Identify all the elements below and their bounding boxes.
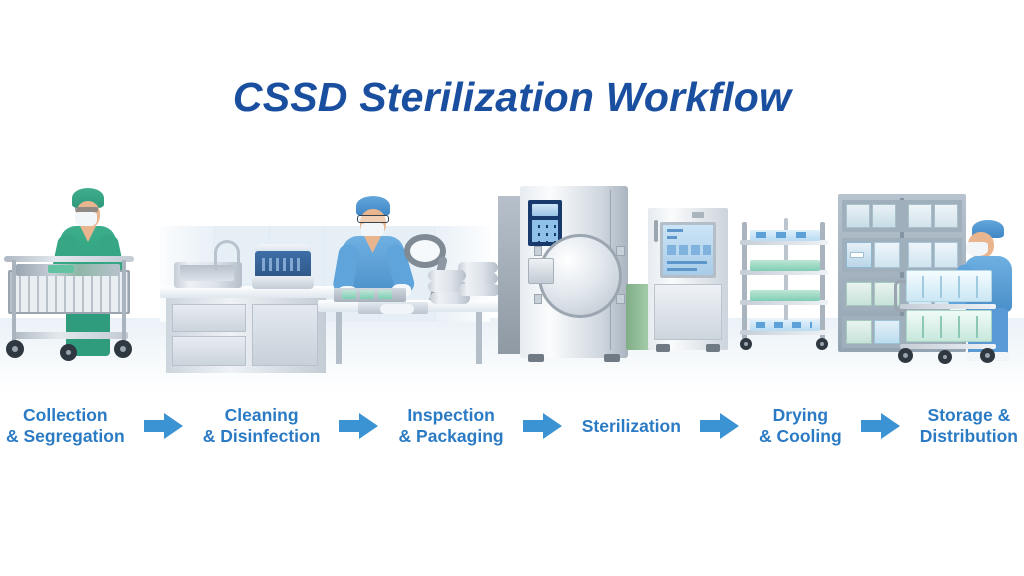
cabinet-top-vent [692,212,704,218]
display-row-1 [667,229,683,232]
drying-cooling-scene [648,208,833,368]
face-mask [75,212,97,227]
stacked-sterilization-containers [428,262,500,306]
cart-leg-right [122,260,126,340]
tray-green-accent [48,265,74,273]
storage-box-7 [908,242,932,268]
display-row-4 [667,268,697,271]
storage-box-13 [846,320,872,344]
cabinet-foot-right [706,344,720,352]
cart-lower-shelf [12,332,128,339]
door-latch-right-lower [616,294,625,304]
display-row-3 [667,261,707,264]
display-screen [532,204,558,216]
step-inspection[interactable]: Inspection & Packaging [399,405,504,447]
step-drying[interactable]: Drying & Cooling [759,405,842,447]
green-tray-2 [750,290,820,301]
box-label-5 [850,252,864,258]
arrow-right-icon-2 [339,413,379,439]
cart-wheel-1 [898,348,913,363]
step-storage[interactable]: Storage & Distribution [920,405,1018,447]
wire-transport-cart [4,256,134,361]
pack-divider-top [906,276,992,298]
distribution-cart [894,270,998,364]
step-collection-line2: & Segregation [6,426,125,447]
step-inspection-line1: Inspection [407,405,495,425]
cabinet-drawer-top [172,304,246,332]
rack-caster-right [816,338,828,350]
storage-box-1 [846,204,870,228]
step-storage-line1: Storage & [928,405,1011,425]
workflow-step-row: Collection & Segregation Cleaning & Disi… [0,396,1024,456]
cart-basket [8,270,130,314]
table-leg-right [476,312,482,364]
cabinet-handle [654,220,658,242]
step-cleaning-line2: & Disinfection [203,426,321,447]
autoclave-foot-left [528,354,544,362]
arrow-right-icon-4 [700,413,740,439]
arrow-right-icon-3 [523,413,563,439]
cabinet-foot-left [656,344,670,352]
cart-leg-left [12,260,16,340]
table-leg-left [336,312,342,364]
step-storage-line2: Distribution [920,426,1018,447]
storage-box-8 [934,242,958,268]
step-sterilization[interactable]: Sterilization [582,416,681,437]
door-handle [528,258,554,284]
cart-wheel-1 [6,340,24,358]
step-inspection-line2: & Packaging [399,426,504,447]
tray-green-3 [378,290,392,299]
inspection-packaging-scene [318,196,503,371]
storage-box-9 [846,282,872,306]
storage-box-2 [872,204,896,228]
gooseneck-faucet [214,240,240,270]
cart-wheel-3 [114,340,132,358]
step-cleaning[interactable]: Cleaning & Disinfection [203,405,321,447]
cleaning-disinfection-scene [160,218,340,373]
storage-box-4 [934,204,958,228]
step-drying-line2: & Cooling [759,426,842,447]
door-latch-right [616,246,625,256]
illustration-band [0,178,1024,393]
control-panel [528,200,562,246]
cart-shelf-mid [900,304,996,309]
cleaner-base [252,276,314,289]
step-cleaning-line1: Cleaning [225,405,299,425]
door-latch-left-lower [534,294,542,304]
pack-divider-bottom [906,316,992,338]
arrow-right-icon-5 [861,413,901,439]
transport-rack [740,222,830,354]
eyeglasses [357,215,389,223]
arrow-right-icon-1 [144,413,184,439]
tray-2-contents [756,322,812,328]
step-collection[interactable]: Collection & Segregation [6,405,125,447]
door-latch-left [534,246,542,256]
container-a3 [458,284,500,296]
touchscreen-display [660,222,716,278]
eyeglasses [75,207,98,212]
cart-wheel-2 [938,350,952,364]
storage-box-6 [874,242,900,268]
storage-distribution-scene [838,194,1024,369]
cabinet-drawer-bottom [172,336,246,366]
tray-1-contents [756,232,812,238]
cart-top-rail [4,256,134,262]
face-mask [966,242,988,256]
sterilization-scene [498,186,643,368]
page-title: CSSD Sterilization Workflow [0,74,1024,121]
step-drying-line1: Drying [773,405,828,425]
storage-box-3 [908,204,932,228]
green-tray-1 [750,260,820,271]
tray-green-2 [360,290,374,299]
autoclave-foot-right [604,354,620,362]
cart-wheel-2 [60,344,77,361]
display-row-2 [667,236,677,239]
instrument-bowl [380,304,414,314]
infographic-canvas: CSSD Sterilization Workflow [0,0,1024,576]
cabinet-lower-door [654,284,722,340]
step-collection-line1: Collection [23,405,108,425]
container-b1 [428,270,466,281]
display-buttons [667,245,711,255]
tray-green-1 [342,290,356,299]
rack-caster-left [740,338,752,350]
cart-shelf-bottom [900,344,996,349]
cabinet-door [252,304,318,366]
ultrasonic-cleaner [252,244,314,290]
keypad [532,220,558,242]
control-panel [262,258,304,271]
step-sterilization-line1: Sterilization [582,416,681,436]
collection-segregation-scene [0,178,170,368]
cart-wheel-3 [980,348,995,363]
